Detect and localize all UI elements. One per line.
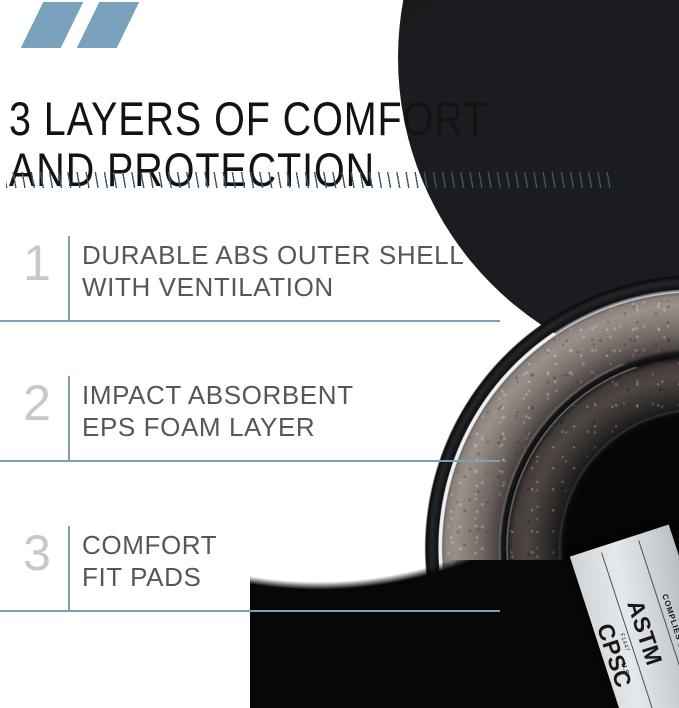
compliance-sticker: COMPLIES WITH ASTM F1447 CPSC U.S. xyxy=(570,524,679,708)
sticker-divider-right xyxy=(638,540,679,706)
layer-underline-3 xyxy=(0,610,500,612)
sticker-divider-left xyxy=(601,552,656,708)
sticker-standard-sub-text: F1447 xyxy=(615,622,630,653)
layer-number-2: 2 xyxy=(14,372,60,434)
sticker-agency-text: CPSC xyxy=(582,592,637,692)
quote-mark-stroke-left xyxy=(21,2,83,48)
layer-label-2: IMPACT ABSORBENT EPS FOAM LAYER xyxy=(82,379,512,443)
layer-vertical-rule-3 xyxy=(68,526,70,612)
helmet-feature-infographic: COMPLIES WITH ASTM F1447 CPSC U.S. 3 LAY… xyxy=(0,0,679,708)
hatch-divider xyxy=(6,172,616,188)
layer-vertical-rule-2 xyxy=(68,376,70,462)
quote-mark-icon xyxy=(12,2,132,50)
quote-mark-stroke-right xyxy=(77,2,139,48)
layer-number-3: 3 xyxy=(14,522,60,584)
sticker-region-column: U.S. xyxy=(583,547,656,708)
layer-underline-2 xyxy=(0,460,500,462)
layer-label-3: COMFORT FIT PADS xyxy=(82,529,512,593)
layer-item-3: 3 COMFORT FIT PADS xyxy=(0,526,520,612)
layer-vertical-rule-1 xyxy=(68,236,70,322)
sticker-complies-text: COMPLIES WITH xyxy=(655,575,679,666)
sticker-agency-column: CPSC xyxy=(570,547,658,708)
layer-item-2: 2 IMPACT ABSORBENT EPS FOAM LAYER xyxy=(0,376,520,462)
layer-number-1: 1 xyxy=(14,232,60,294)
sticker-complies-column: COMPLIES WITH xyxy=(640,525,679,708)
sticker-standard-text: ASTM xyxy=(620,591,668,669)
sticker-standard-column: ASTM xyxy=(602,536,679,708)
sticker-standard-sub-column: F1447 xyxy=(591,546,661,708)
layer-underline-1 xyxy=(0,320,500,322)
sticker-region-text: U.S. xyxy=(600,602,631,678)
layer-label-1: DURABLE ABS OUTER SHELL WITH VENTILATION xyxy=(82,239,512,303)
layer-item-1: 1 DURABLE ABS OUTER SHELL WITH VENTILATI… xyxy=(0,236,520,322)
